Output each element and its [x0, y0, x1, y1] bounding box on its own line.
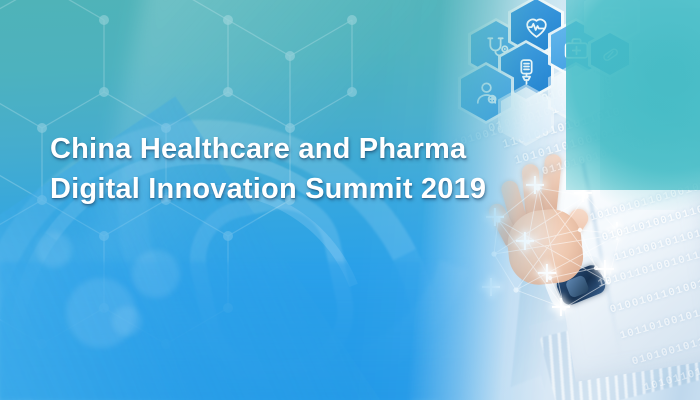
- event-banner: 1010110100101101010100101101001011010010…: [0, 0, 700, 400]
- title-line-2: Digital Innovation Summit 2019: [50, 169, 486, 209]
- bokeh-circle: [112, 306, 142, 336]
- page-title: China Healthcare and Pharma Digital Inno…: [50, 129, 486, 209]
- bokeh-circle: [36, 232, 72, 268]
- bokeh-circle: [132, 250, 180, 298]
- title-line-1: China Healthcare and Pharma: [50, 129, 486, 169]
